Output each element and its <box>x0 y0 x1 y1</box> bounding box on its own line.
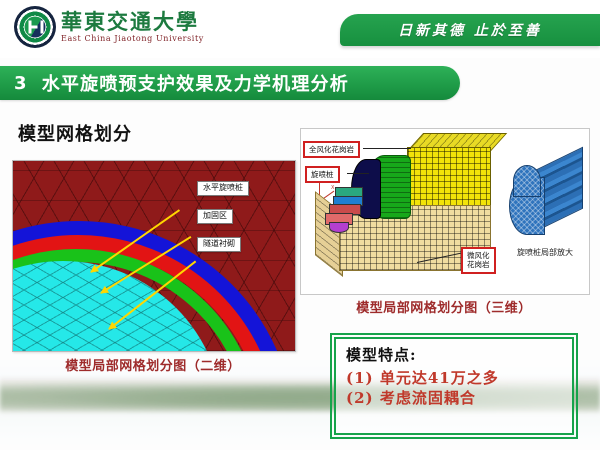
figure-2d-caption: 模型局部网格划分图（二维） <box>12 355 294 374</box>
slide-title-number: 3 <box>0 73 28 94</box>
motto-text: 日新其德 止於至善 <box>398 20 542 40</box>
label-fully-weathered-granite: 全风化花岗岩 <box>303 141 360 158</box>
callout-box-tunnel-lining: 隧道衬砌 <box>197 237 241 252</box>
slide-title-bar: 3 水平旋喷预支护效果及力学机理分析 <box>0 66 460 100</box>
figure-3d-caption: 模型局部网格划分图（三维） <box>300 297 588 316</box>
pile-bundle-zoom-graphic <box>509 169 581 241</box>
motto-banner: 日新其德 止於至善 <box>340 14 600 46</box>
leader-line-2 <box>347 173 369 174</box>
university-name-en: East China Jiaotong University <box>61 34 204 43</box>
mesh-2d-canvas: 水平旋喷桩 加固区 隧道衬砌 <box>13 161 295 351</box>
figure-2d-mesh: 水平旋喷桩 加固区 隧道衬砌 <box>12 160 296 352</box>
figure-3d-mesh: Z Y X 全风化花岗岩 旋喷桩 微风化 花岗岩 旋喷桩局部放大 <box>300 128 590 295</box>
label-slightly-weathered-granite: 微风化 花岗岩 <box>461 247 496 274</box>
callout-box-horizontal-jet-pile: 水平旋喷桩 <box>197 181 249 196</box>
label-slightly-weathered-granite-line1: 微风化 <box>467 251 490 260</box>
model-features-title: 模型特点: <box>346 344 562 365</box>
model-features-box: 模型特点: (1) 单元达41万之多 (2) 考虑流固耦合 <box>334 337 574 435</box>
section-heading: 模型网格划分 <box>18 120 132 146</box>
slide-header: 華東交通大學 East China Jiaotong University 日新… <box>0 0 600 58</box>
callout-box-reinforced-zone: 加固区 <box>197 209 233 224</box>
university-name-cn: 華東交通大學 <box>61 11 204 33</box>
tunnel-face-layers <box>325 187 369 231</box>
model-feature-item-1: (1) 单元达41万之多 <box>346 368 562 388</box>
university-emblem-icon <box>14 6 56 48</box>
slide-canvas: 華東交通大學 East China Jiaotong University 日新… <box>0 0 600 450</box>
label-jet-grouting-pile: 旋喷桩 <box>305 166 340 183</box>
pile-face-upper <box>513 165 541 197</box>
leader-line-1 <box>363 148 411 149</box>
label-slightly-weathered-granite-line2: 花岗岩 <box>467 260 490 269</box>
pile-zoom-caption: 旋喷桩局部放大 <box>497 247 590 258</box>
slide-title-text: 水平旋喷预支护效果及力学机理分析 <box>28 70 349 96</box>
model-feature-item-2: (2) 考虑流固耦合 <box>346 388 562 408</box>
university-logo: 華東交通大學 East China Jiaotong University <box>14 6 204 48</box>
weathered-granite-block <box>407 147 491 207</box>
